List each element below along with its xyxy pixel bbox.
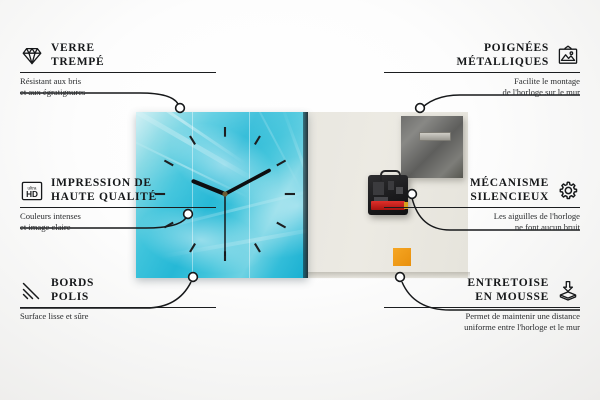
feature-title: MÉCANISME SILENCIEUX xyxy=(470,177,549,204)
clock-center-hub xyxy=(222,191,227,196)
svg-text:HD: HD xyxy=(26,190,38,199)
feature-title: IMPRESSION DE HAUTE QUALITÉ xyxy=(51,177,157,204)
metal-hanger-plate xyxy=(401,116,463,178)
foam-spacer-icon xyxy=(556,279,580,303)
feature-header: BORDS POLIS xyxy=(20,277,216,304)
feature-description: Permet de maintenir une distance uniform… xyxy=(384,311,580,332)
minute-hand xyxy=(225,171,269,195)
feature-description: Surface lisse et sûre xyxy=(20,311,216,321)
feature-divider xyxy=(384,207,580,208)
polished-edges-icon xyxy=(20,279,44,303)
connector-poignees xyxy=(418,95,580,112)
feature-description: Couleurs intenses et image claire xyxy=(20,211,216,232)
wall-frame-icon xyxy=(556,44,580,68)
hour-tick xyxy=(190,244,195,252)
mechanism-detail xyxy=(373,182,384,195)
hour-tick xyxy=(255,136,260,144)
hanger-slot xyxy=(419,132,451,141)
feature-divider xyxy=(20,207,216,208)
feature-bords-polis: BORDS POLIS Surface lisse et sûre xyxy=(20,277,216,322)
feature-header: ENTRETOISE EN MOUSSE xyxy=(384,277,580,304)
feature-title: VERRE TREMPÉ xyxy=(51,42,104,69)
feature-header: POIGNÉES MÉTALLIQUES xyxy=(384,42,580,69)
ultra-hd-icon: ultra HD xyxy=(20,179,44,203)
hour-tick xyxy=(277,223,286,228)
feature-description: Facilite le montage de l'horloge sur le … xyxy=(384,76,580,97)
feature-divider xyxy=(20,307,216,308)
feature-header: ultra HD IMPRESSION DE HAUTE QUALITÉ xyxy=(20,177,216,204)
feature-mecanisme-silencieux: MÉCANISME SILENCIEUX Les aiguilles de l'… xyxy=(384,177,580,232)
feature-title: BORDS POLIS xyxy=(51,277,94,304)
feature-description: Résistant aux bris et aux égratignures xyxy=(20,76,216,97)
diamond-icon xyxy=(20,44,44,68)
hour-tick xyxy=(255,244,260,252)
feature-title: ENTRETOISE EN MOUSSE xyxy=(467,277,549,304)
hour-tick xyxy=(164,161,173,166)
foam-spacer xyxy=(393,248,411,266)
hour-tick xyxy=(277,161,286,166)
product-infographic: VERRE TREMPÉ Résistant aux bris et aux é… xyxy=(0,0,600,400)
feature-divider xyxy=(20,72,216,73)
feature-description: Les aiguilles de l'horloge ne font aucun… xyxy=(384,211,580,232)
feature-header: VERRE TREMPÉ xyxy=(20,42,216,69)
feature-header: MÉCANISME SILENCIEUX xyxy=(384,177,580,204)
feature-divider xyxy=(384,307,580,308)
feature-divider xyxy=(384,72,580,73)
feature-poignees-metalliques: POIGNÉES MÉTALLIQUES Facilite le montage… xyxy=(384,42,580,97)
feature-verre-trempe: VERRE TREMPÉ Résistant aux bris et aux é… xyxy=(20,42,216,97)
gear-icon xyxy=(556,179,580,203)
hour-tick xyxy=(190,136,195,144)
feature-impression-haute-qualite: ultra HD IMPRESSION DE HAUTE QUALITÉ Cou… xyxy=(20,177,216,232)
feature-entretoise-en-mousse: ENTRETOISE EN MOUSSE Permet de maintenir… xyxy=(384,277,580,332)
feature-title: POIGNÉES MÉTALLIQUES xyxy=(457,42,549,69)
